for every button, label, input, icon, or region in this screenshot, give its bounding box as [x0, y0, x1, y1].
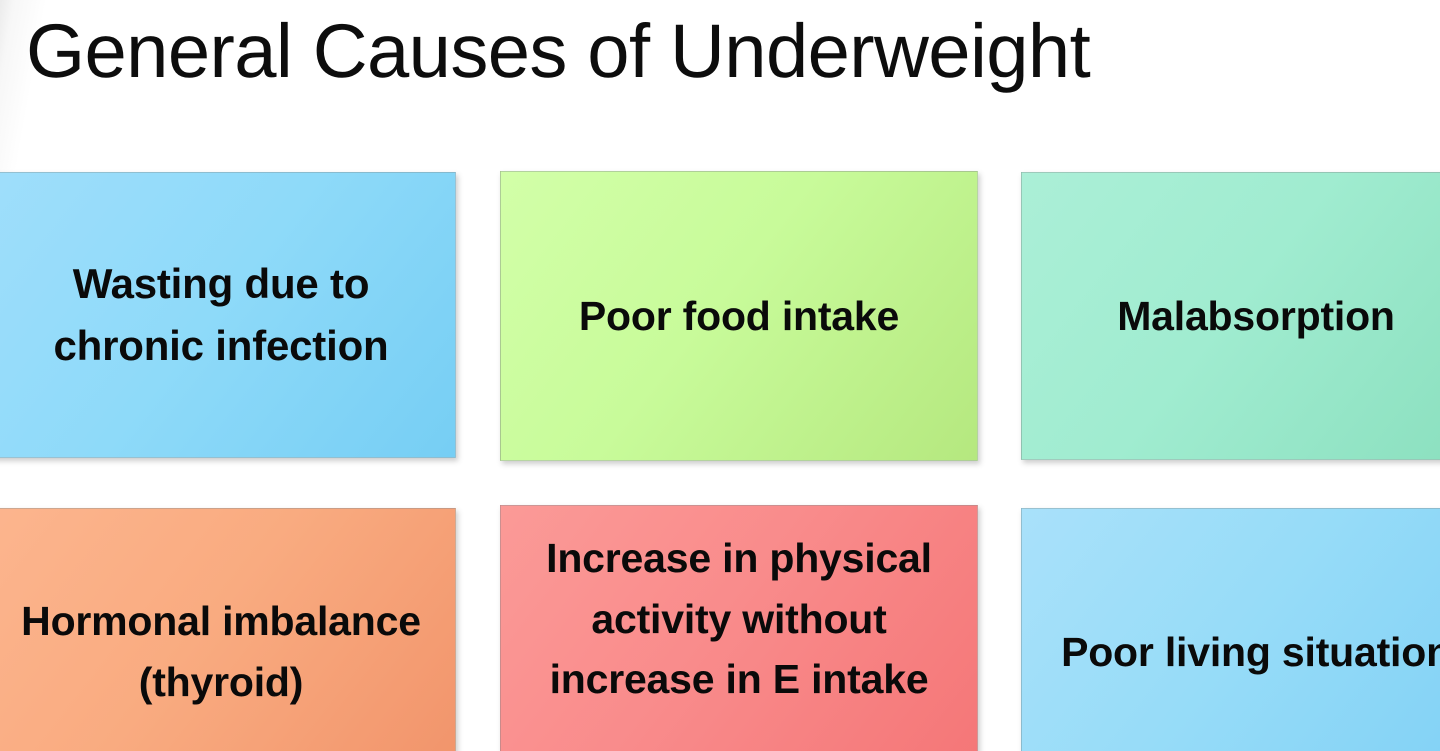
cause-box-label: Wasting due to chronic infection: [0, 253, 455, 377]
slide-canvas: General Causes of Underweight Wasting du…: [0, 0, 1440, 751]
cause-box-poor-food-intake[interactable]: Poor food intake: [500, 171, 978, 461]
cause-box-wasting[interactable]: Wasting due to chronic infection: [0, 172, 456, 458]
cause-box-hormonal-imbalance[interactable]: Hormonal imbalance (thyroid): [0, 508, 456, 751]
cause-box-label: Hormonal imbalance (thyroid): [0, 591, 455, 712]
cause-box-label: Poor living situation: [1022, 622, 1440, 683]
cause-box-increased-physical-activity[interactable]: Increase in physical activity without in…: [500, 505, 978, 751]
cause-box-label: Poor food intake: [501, 286, 977, 347]
page-title: General Causes of Underweight: [26, 2, 1366, 102]
cause-box-label: Increase in physical activity without in…: [501, 506, 977, 710]
cause-box-poor-living-situation[interactable]: Poor living situation: [1021, 508, 1440, 751]
cause-box-label: Malabsorption: [1022, 286, 1440, 347]
cause-box-malabsorption[interactable]: Malabsorption: [1021, 172, 1440, 460]
